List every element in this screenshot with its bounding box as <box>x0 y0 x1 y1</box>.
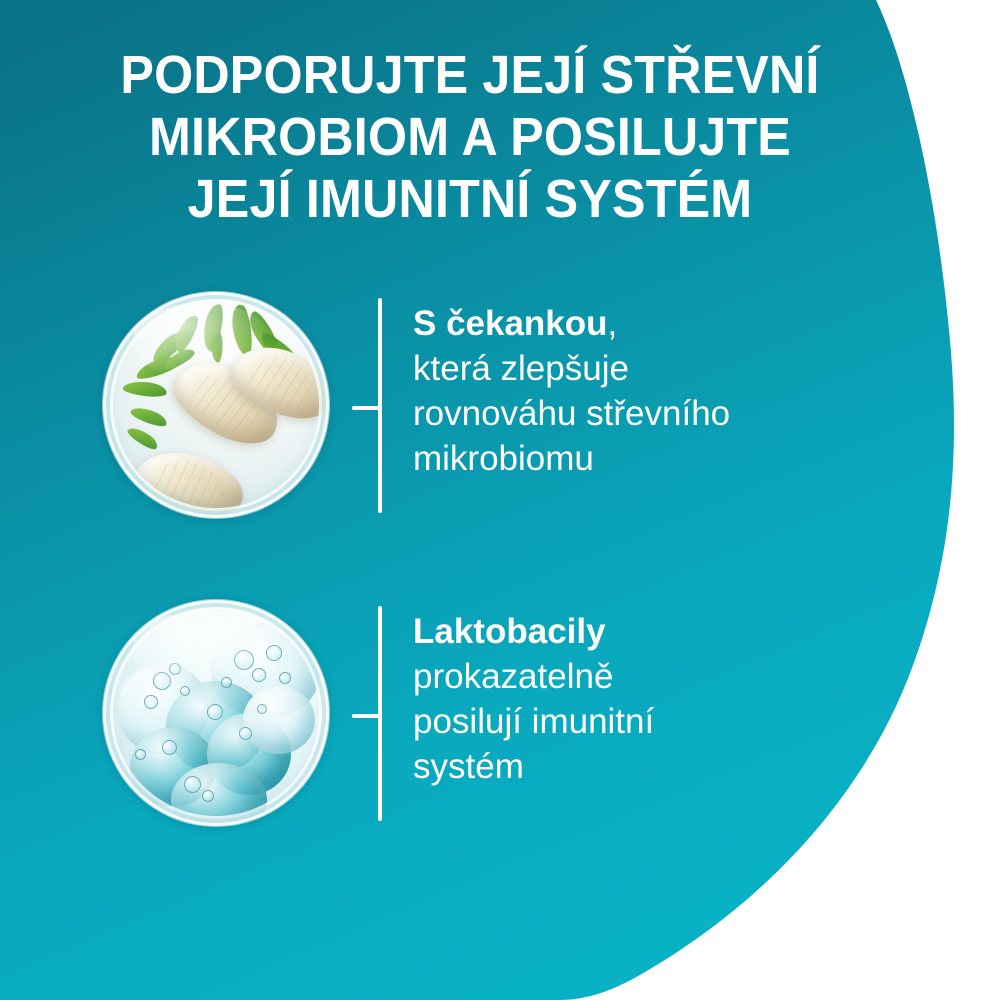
feature-lactobacilli-lead: Laktobacily <box>413 612 606 651</box>
lactobacilli-gel-bubbles-petri-dish-photo <box>103 600 329 826</box>
gel-bubbles-illustration <box>103 600 329 826</box>
connector-horizontal-tick <box>352 714 380 718</box>
feature-chicory-lead: S čekankou <box>413 304 608 343</box>
feature-lactobacilli-body-line-3: systém <box>413 747 524 786</box>
feature-chicory-text: S čekankou, která zlepšuje rovnováhu stř… <box>413 301 833 481</box>
headline-line-1: PODPORUJTE JEJÍ STŘEVNÍ <box>89 44 852 106</box>
feature-chicory-body-line-2: rovnováhu střevního <box>413 394 730 433</box>
feature-chicory-body-line-3: mikrobiomu <box>413 439 594 478</box>
feature-chicory-lead-suffix: , <box>608 304 618 343</box>
headline-line-3: JEJÍ IMUNITNÍ SYSTÉM <box>89 168 852 230</box>
infographic-canvas: PODPORUJTE JEJÍ STŘEVNÍ MIKROBIOM A POSI… <box>0 0 1000 1000</box>
feature-chicory-body-line-1: která zlepšuje <box>413 349 629 388</box>
feature-lactobacilli-body-line-2: posilují imunitní <box>413 702 654 741</box>
connector-line-lactobacilli <box>340 593 400 833</box>
headline-line-2: MIKROBIOM A POSILUJTE <box>89 106 852 168</box>
chicory-root-illustration <box>103 292 329 518</box>
petri-dish-contents <box>103 600 329 826</box>
connector-horizontal-tick <box>352 406 380 410</box>
connector-line-chicory <box>340 285 400 525</box>
headline: PODPORUJTE JEJÍ STŘEVNÍ MIKROBIOM A POSI… <box>89 44 852 230</box>
feature-lactobacilli-text: Laktobacily prokazatelně posilují imunit… <box>413 609 833 789</box>
feature-lactobacilli-body-line-1: prokazatelně <box>413 657 613 696</box>
petri-dish-contents <box>103 292 329 518</box>
chicory-roots-petri-dish-photo <box>103 292 329 518</box>
